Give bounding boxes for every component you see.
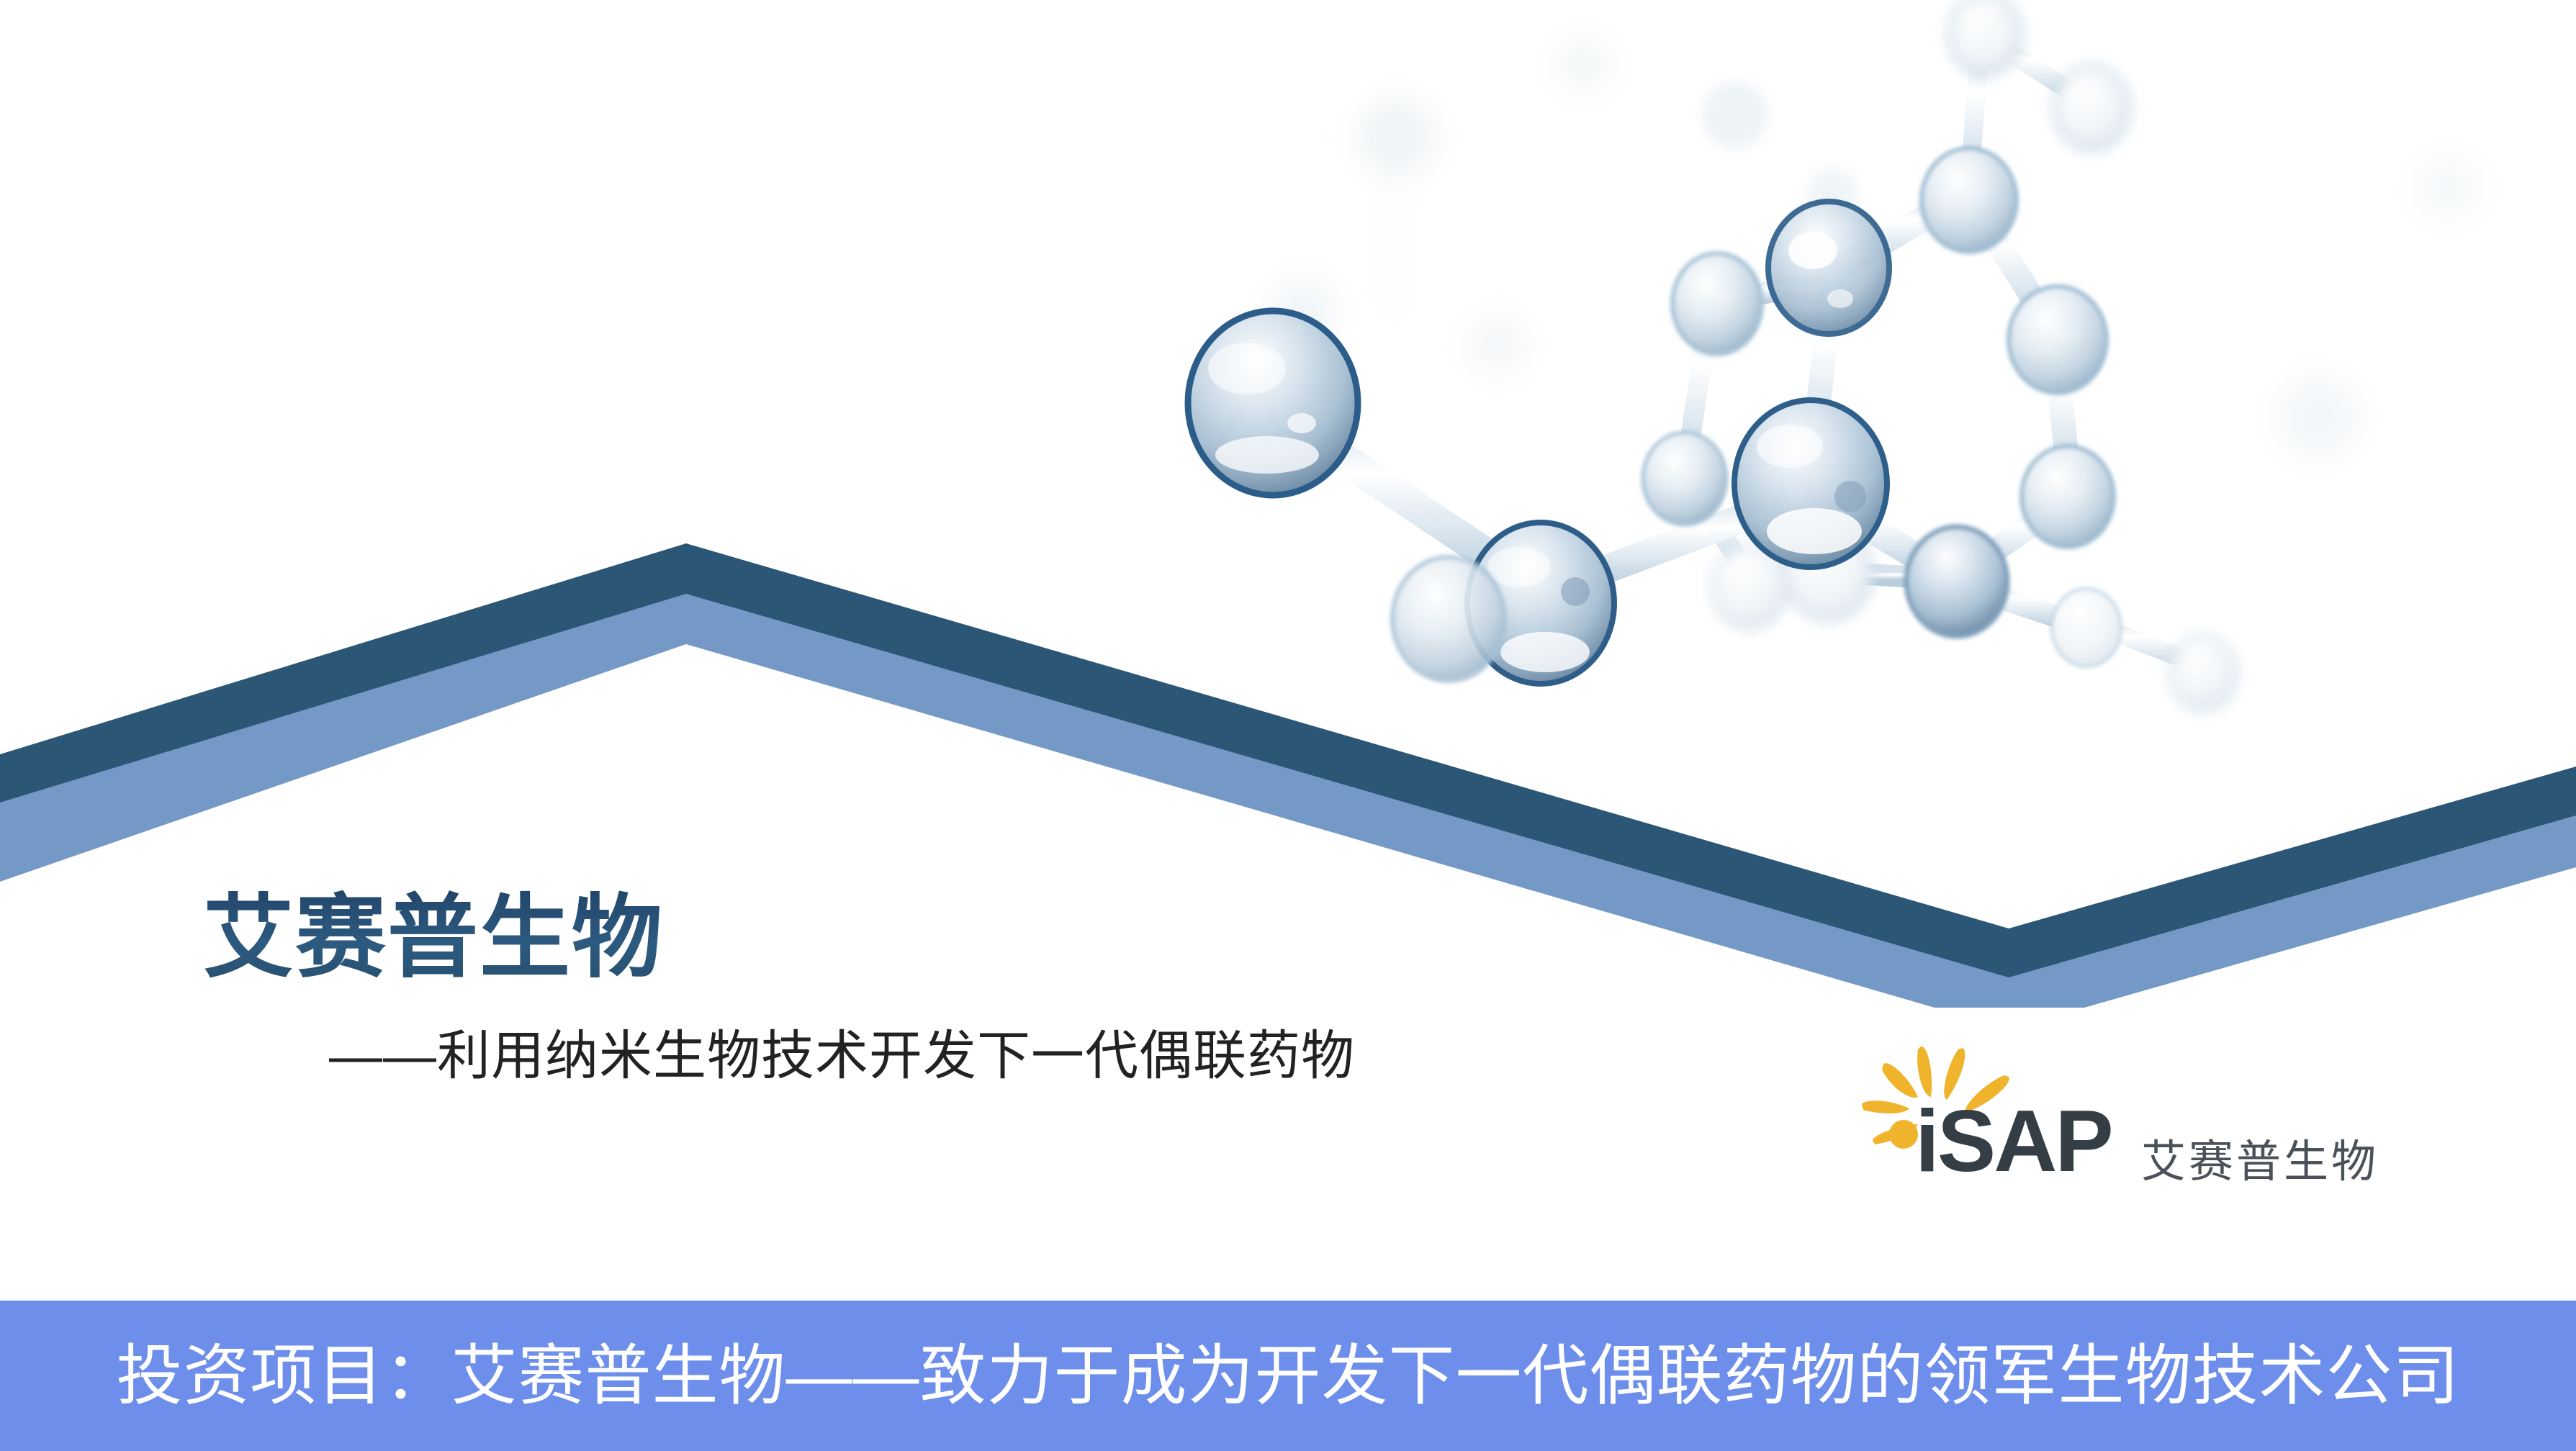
logo-wordmark: iSAP xyxy=(1915,1097,2112,1185)
page-title: 艾赛普生物 xyxy=(203,887,1571,988)
title-block: 艾赛普生物 ——利用纳米生物技术开发下一代偶联药物 xyxy=(203,887,1571,1090)
bottom-banner: 投资项目：艾赛普生物——致力于成为开发下一代偶联药物的领军生物技术公司 xyxy=(0,1301,2576,1451)
isap-logo: iSAP 艾赛普生物 xyxy=(1849,1034,2281,1206)
logo-chinese-name: 艾赛普生物 xyxy=(2141,1140,2379,1185)
page-subtitle: ——利用纳米生物技术开发下一代偶联药物 xyxy=(329,1013,1571,1090)
banner-text: 投资项目：艾赛普生物——致力于成为开发下一代偶联药物的领军生物技术公司 xyxy=(116,1343,2459,1409)
presentation-slide: 艾赛普生物 ——利用纳米生物技术开发下一代偶联药物 iSAP 艾赛普生物 xyxy=(0,0,2576,1451)
